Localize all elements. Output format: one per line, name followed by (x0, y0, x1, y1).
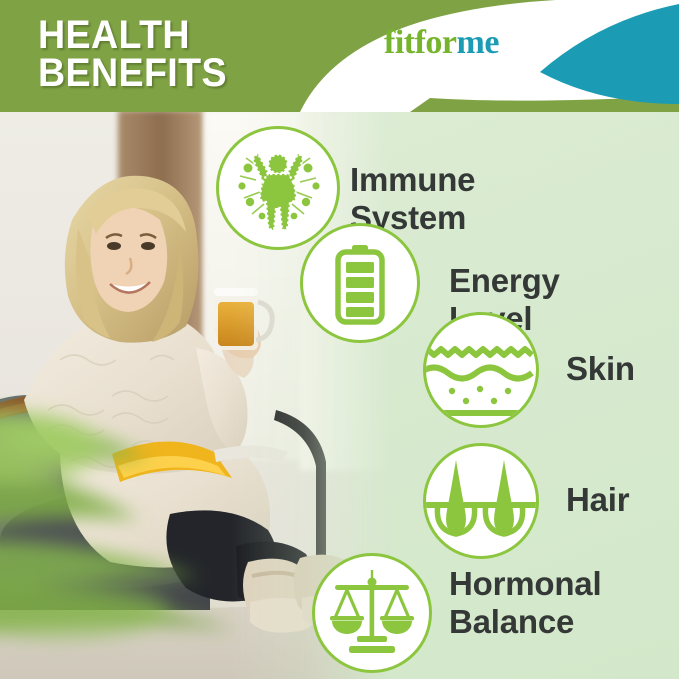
brand-logo-accent: me (457, 24, 499, 61)
hair-follicle-icon (423, 443, 539, 559)
benefit-label-skin: Skin (566, 350, 635, 388)
scale-base (349, 646, 395, 653)
scale-right-strings (385, 590, 409, 618)
scale-right-pan (382, 621, 412, 634)
page-title: HEALTH BENEFITS (38, 16, 227, 92)
scale-post (370, 588, 375, 636)
brand-logo: fitforme (384, 26, 499, 60)
header-band: HEALTH BENEFITS fitforme (0, 0, 679, 112)
battery-icon (300, 223, 420, 343)
immune-person-icon (216, 126, 340, 250)
brand-logo-primary: fitfor (384, 24, 457, 61)
benefit-label-hormonal-balance: Hormonal Balance (449, 565, 601, 641)
skin-base-line (430, 410, 532, 416)
benefit-label-hair: Hair (566, 481, 629, 519)
scale-left-pan (332, 621, 362, 634)
skin-dots (449, 386, 511, 404)
skin-zigzag-line (426, 349, 532, 355)
hair-follicle-left (437, 460, 474, 534)
hair-follicle-right (485, 460, 522, 534)
scale-left-strings (335, 590, 359, 618)
balance-scale-icon (312, 553, 432, 673)
skin-layers-icon (423, 312, 539, 428)
skin-wave-line (426, 368, 532, 379)
health-benefits-infographic: HEALTH BENEFITS fitforme (0, 0, 679, 679)
